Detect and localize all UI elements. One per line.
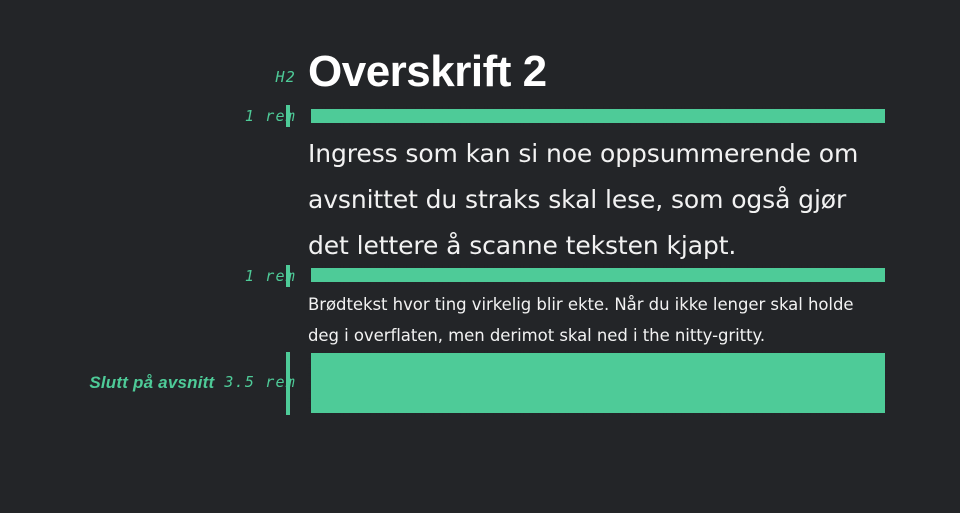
ingress-line: Ingress som kan si noe oppsummerende om	[308, 131, 908, 177]
body-line: Brødtekst hvor ting virkelig blir ekte. …	[308, 289, 908, 320]
measure-tick-after-ingress	[286, 265, 290, 287]
body-paragraph: Brødtekst hvor ting virkelig blir ekte. …	[308, 289, 908, 351]
measure-band-after-heading	[308, 106, 888, 126]
measure-band-fill	[311, 353, 885, 413]
measure-band-end-of-section	[308, 350, 888, 416]
measure-band-fill	[311, 268, 885, 282]
heading-tag-gutter: H2	[0, 58, 296, 96]
heading-tag-label: H2	[276, 70, 296, 85]
measure-gutter-end-of-section: Slutt på avsnitt 3.5 rem	[0, 370, 296, 394]
measure-gutter-after-heading: 1 rem	[0, 105, 296, 127]
ingress-paragraph: Ingress som kan si noe oppsummerende om …	[308, 131, 908, 269]
page-heading: Overskrift 2	[308, 50, 908, 94]
measure-gutter-after-ingress: 1 rem	[0, 265, 296, 287]
measure-band-after-ingress	[308, 265, 888, 285]
measure-tick-end-of-section	[286, 352, 290, 415]
spacing-spec-canvas: H2 Overskrift 2 1 rem Ingress som kan si…	[0, 0, 960, 513]
measure-tick-after-heading	[286, 105, 290, 127]
body-line: deg i overflaten, men derimot skal ned i…	[308, 320, 908, 351]
ingress-line: avsnittet du straks skal lese, som også …	[308, 177, 908, 223]
measure-band-fill	[311, 109, 885, 123]
ingress-line: det lettere å scanne teksten kjapt.	[308, 223, 908, 269]
measure-name-end-of-section: Slutt på avsnitt	[89, 374, 214, 391]
